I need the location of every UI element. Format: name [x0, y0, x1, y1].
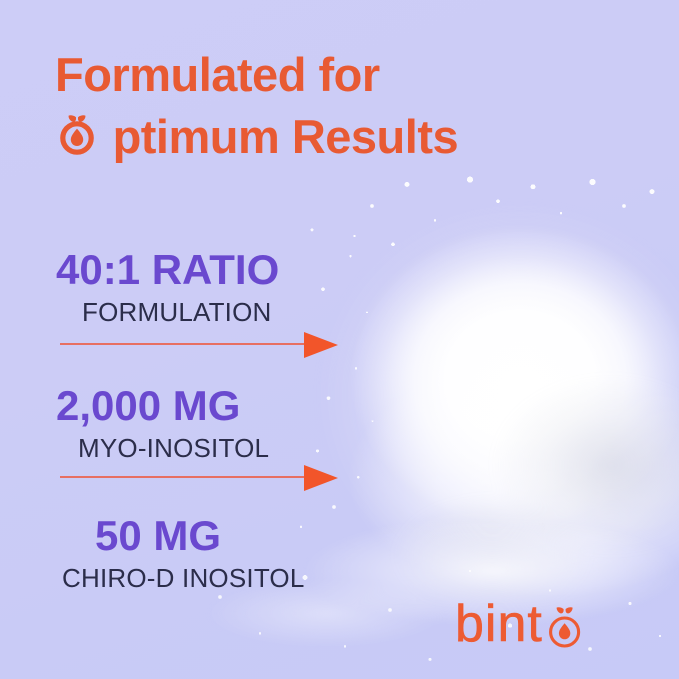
- stat-label-myo-inositol: MYO-INOSITOL: [78, 433, 269, 464]
- stat-value-myo-inositol: 2,000 MG: [56, 382, 240, 430]
- powder-shadow: [330, 300, 679, 600]
- headline-line-2-text: ptimum Results: [113, 110, 459, 163]
- headline: Formulated for ptimum Results: [55, 44, 458, 168]
- binto-wordmark: bint: [455, 598, 543, 650]
- binto-droplet-icon: [55, 111, 99, 155]
- headline-line-2: ptimum Results: [55, 106, 458, 168]
- binto-logo: bint: [455, 598, 586, 650]
- arrow-shaft: [60, 343, 306, 345]
- stat-value-chiro-d-inositol: 50 MG: [95, 512, 221, 560]
- powder-halo: [280, 150, 679, 620]
- powder-mound: [300, 175, 679, 595]
- headline-line-1: Formulated for: [55, 44, 458, 106]
- stat-label-chiro-d-inositol: CHIRO-D INOSITOL: [62, 563, 305, 594]
- marketing-image: Formulated for ptimum Results 40:1 RATIO…: [0, 0, 679, 679]
- arrow-icon-1: [60, 332, 338, 358]
- arrow-head: [304, 465, 338, 491]
- powder-spill: [170, 520, 679, 679]
- arrow-icon-2: [60, 465, 338, 491]
- binto-droplet-icon-logo: [544, 598, 586, 650]
- stat-label-formulation: FORMULATION: [82, 297, 272, 328]
- arrow-head: [304, 332, 338, 358]
- arrow-shaft: [60, 476, 306, 478]
- stat-value-ratio: 40:1 RATIO: [56, 246, 279, 294]
- powder-particles-top: [330, 170, 679, 290]
